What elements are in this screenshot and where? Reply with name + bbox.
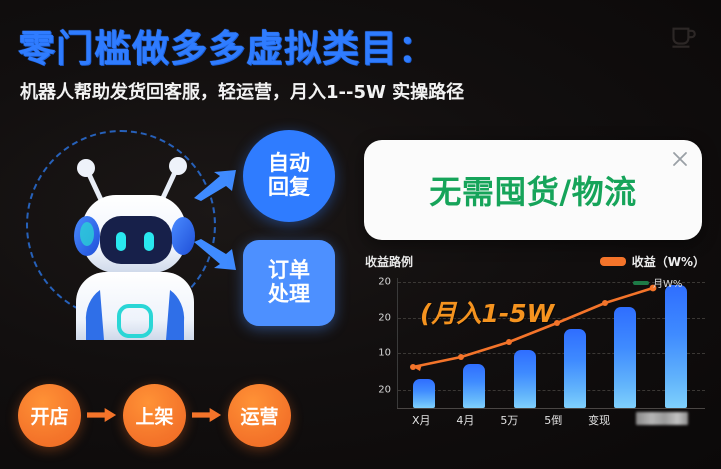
- chart-header: 收益路例 收益（W%）: [365, 250, 705, 272]
- step-open-shop[interactable]: 开店: [18, 384, 81, 447]
- y-tick-2: 10: [378, 348, 391, 359]
- step-list-product[interactable]: 上架: [123, 384, 186, 447]
- step-operate[interactable]: 运营: [228, 384, 291, 447]
- right-panel: 无需囤货/物流 收益路例 收益（W%） 20 20 10 20: [357, 132, 709, 462]
- bubble-order-processing[interactable]: 订单 处理: [243, 240, 335, 326]
- y-tick-0: 20: [378, 277, 391, 288]
- trend-dash-icon: [633, 281, 649, 285]
- x-axis-labels: X月 4月 5万 5倒 变现: [399, 412, 701, 432]
- x-tick-5-blurred: [636, 412, 688, 425]
- step-arrow-2: [186, 407, 228, 423]
- bubble-auto-reply-line2: 回复: [268, 176, 310, 200]
- promo-infographic-page: 零门槛做多多虚拟类目： 机器人帮助发货回客服，轻运营，月入1--5W 实操路径: [0, 0, 721, 469]
- trend-series-label: 月W%: [633, 275, 682, 290]
- bubble-auto-reply-line1: 自动: [268, 152, 310, 176]
- close-icon[interactable]: [670, 149, 690, 169]
- chart-title: 收益路例: [365, 253, 413, 270]
- y-tick-3: 20: [378, 385, 391, 396]
- y-tick-1: 20: [378, 313, 391, 324]
- page-subtitle: 机器人帮助发货回客服，轻运营，月入1--5W 实操路径: [20, 78, 464, 104]
- promo-card: 无需囤货/物流: [364, 140, 702, 240]
- bar-4: [614, 307, 636, 408]
- steps-flow: 开店 上架 运营: [18, 375, 348, 455]
- x-tick-2: 5万: [500, 412, 518, 432]
- bar-0: [413, 379, 435, 408]
- chart-annotation: (月入1-5W: [420, 294, 554, 330]
- bubble-auto-reply[interactable]: 自动 回复: [243, 130, 335, 222]
- bubble-order-processing-line2: 处理: [268, 283, 310, 307]
- bar-1: [463, 364, 485, 408]
- promo-text: 无需囤货/物流: [429, 167, 636, 213]
- x-axis-line: [397, 408, 705, 409]
- arrow-up-right-icon: [192, 168, 238, 202]
- cup-watermark-icon: [665, 18, 699, 52]
- arrow-right-icon: [192, 407, 222, 423]
- bubble-order-processing-line1: 订单: [268, 259, 310, 283]
- arrow-down-right-icon: [192, 238, 238, 272]
- bar-2: [514, 350, 536, 408]
- header: 零门槛做多多虚拟类目： 机器人帮助发货回客服，轻运营，月入1--5W 实操路径: [0, 0, 721, 118]
- step-arrow-1: [81, 407, 123, 423]
- left-panel: 自动 回复 订单 处理 开店 上架 运营: [0, 120, 356, 469]
- arrow-right-icon: [87, 407, 117, 423]
- bar-5: [665, 285, 687, 408]
- legend-label: 收益（W%）: [632, 253, 705, 270]
- chart-plot-area: 20 20 10 20: [365, 278, 705, 430]
- page-title: 零门槛做多多虚拟类目：: [18, 18, 436, 72]
- bar-3: [564, 329, 586, 408]
- revenue-chart: 收益路例 收益（W%） 20 20 10 20: [357, 250, 709, 462]
- x-tick-3: 5倒: [544, 412, 562, 432]
- x-tick-1: 4月: [456, 412, 474, 432]
- x-tick-0: X月: [412, 412, 431, 432]
- trend-label-text: 月W%: [653, 275, 682, 290]
- y-axis: 20 20 10 20: [365, 278, 395, 408]
- legend-swatch-icon: [600, 257, 626, 266]
- chart-legend: 收益（W%）: [600, 253, 705, 270]
- x-tick-4: 变现: [588, 412, 610, 432]
